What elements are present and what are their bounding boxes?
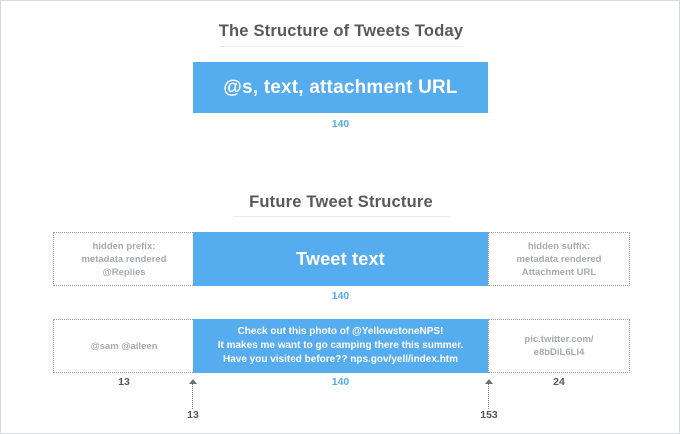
count-today: 140 (193, 118, 488, 130)
hidden-prefix-line-2: metadata rendered (81, 253, 166, 266)
count-future: 140 (193, 290, 488, 302)
example-suffix-line-1: pic.twitter.com/ (524, 333, 593, 346)
example-tweet-bar: Check out this photo of @YellowstoneNPS!… (193, 319, 488, 373)
example-suffix-count: 24 (488, 376, 630, 388)
example-tweet-count: 140 (193, 376, 488, 388)
section-title-rule-future (233, 216, 449, 217)
example-tweet-text: Check out this photo of @YellowstoneNPS!… (206, 325, 476, 367)
hidden-prefix-text: hidden prefix: metadata rendered @Replie… (81, 240, 166, 279)
tweet-bar-today: @s, text, attachment URL (193, 62, 488, 113)
arrow-head-icon (189, 379, 197, 384)
example-tweet-line-3: Have you visited before?? nps.gov/yell/i… (218, 353, 464, 367)
hidden-suffix-text: hidden suffix: metadata rendered Attachm… (516, 240, 601, 279)
example-suffix-line-2: e8bDiL6Ll4 (524, 346, 593, 359)
infographic-canvas: The Structure of Tweets Today @s, text, … (0, 0, 680, 434)
section-title-rule-today (219, 46, 463, 47)
example-prefix-count: 13 (53, 376, 195, 388)
end-index-label: 153 (459, 409, 519, 421)
section-title-today: The Structure of Tweets Today (191, 22, 491, 41)
tweet-bar-future-label: Tweet text (296, 249, 385, 270)
section-title-future: Future Tweet Structure (191, 193, 491, 212)
hidden-suffix-line-2: metadata rendered (516, 253, 601, 266)
example-suffix-text: pic.twitter.com/ e8bDiL6Ll4 (524, 333, 593, 359)
example-prefix-box: @sam @aileen (53, 319, 195, 373)
arrow-stem-icon (192, 384, 193, 409)
hidden-suffix-line-1: hidden suffix: (516, 240, 601, 253)
example-tweet-line-2: It makes me want to go camping there thi… (218, 339, 464, 353)
start-index-arrow-icon (187, 379, 199, 409)
tweet-bar-today-label: @s, text, attachment URL (223, 77, 457, 99)
arrow-stem-icon (488, 384, 489, 409)
hidden-prefix-box: hidden prefix: metadata rendered @Replie… (53, 232, 195, 286)
example-suffix-box: pic.twitter.com/ e8bDiL6Ll4 (488, 319, 630, 373)
hidden-prefix-line-3: @Replies (81, 266, 166, 279)
end-index-arrow-icon (483, 379, 495, 409)
example-tweet-line-1: Check out this photo of @YellowstoneNPS! (218, 325, 464, 339)
hidden-suffix-line-3: Attachment URL (516, 266, 601, 279)
hidden-suffix-box: hidden suffix: metadata rendered Attachm… (488, 232, 630, 286)
start-index-label: 13 (163, 409, 223, 421)
example-prefix-text: @sam @aileen (90, 340, 157, 353)
arrow-head-icon (485, 379, 493, 384)
hidden-prefix-line-1: hidden prefix: (81, 240, 166, 253)
tweet-bar-future: Tweet text (193, 232, 488, 286)
